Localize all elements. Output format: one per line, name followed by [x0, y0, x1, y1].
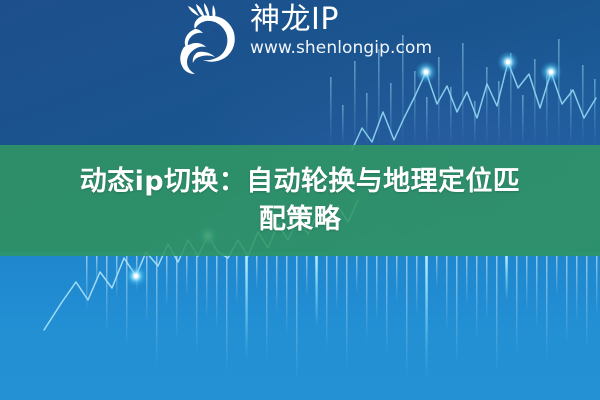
brand-url: www.shenlongip.com	[250, 37, 432, 59]
brand-wordmark: 神龙IP www.shenlongip.com	[250, 2, 432, 59]
banner-title-line-1: 动态ip切换：自动轮换与地理定位匹	[30, 163, 570, 200]
title-band: 动态ip切换：自动轮换与地理定位匹 配策略	[0, 145, 600, 256]
banner-title-line-2: 配策略	[30, 201, 570, 238]
brand-name: 神龙IP	[250, 4, 432, 36]
title-band-inner: 动态ip切换：自动轮换与地理定位匹 配策略	[30, 163, 570, 238]
brand-logo-block[interactable]: 神龙IP www.shenlongip.com	[176, 2, 432, 76]
background-bottom	[0, 252, 600, 400]
promo-banner: 动态ip切换：自动轮换与地理定位匹 配策略	[0, 0, 600, 400]
dragon-head-icon	[176, 2, 242, 76]
